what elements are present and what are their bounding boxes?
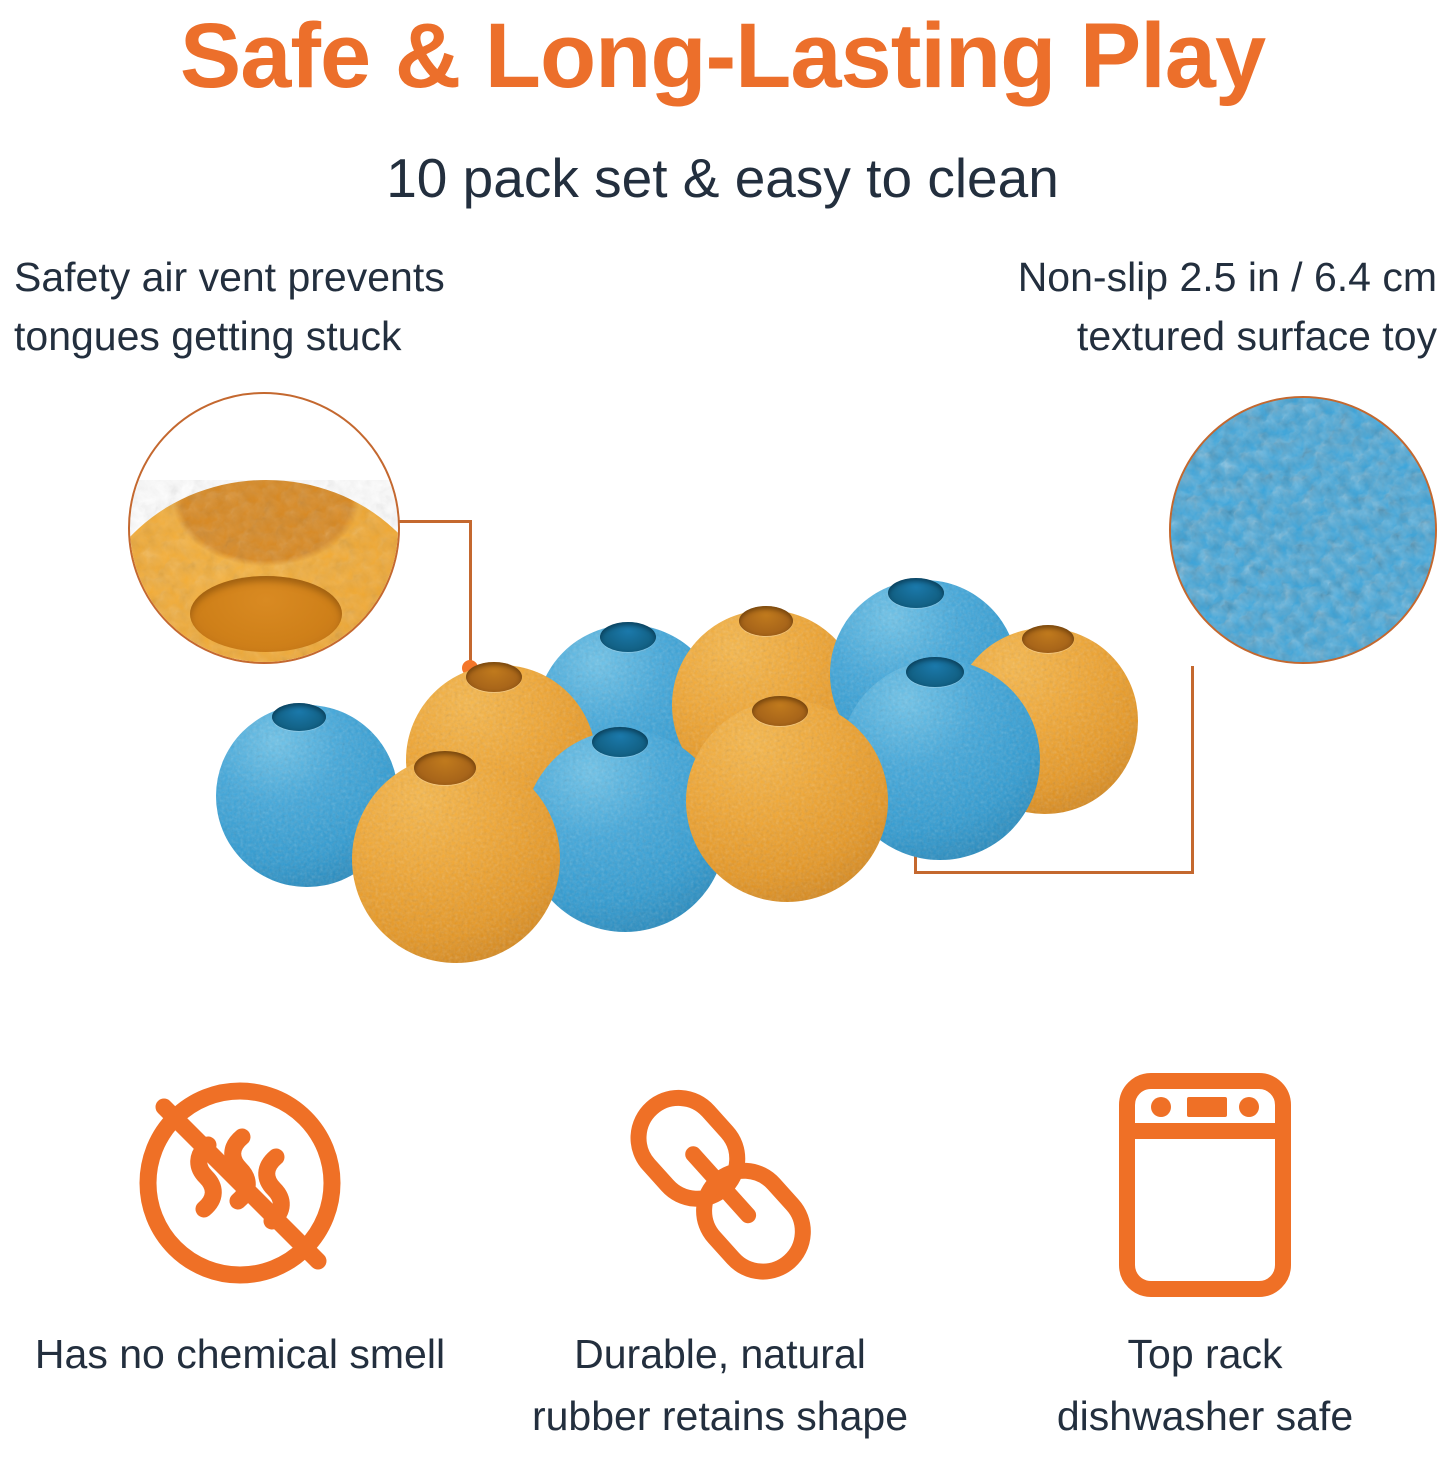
ball-air-vent-hole [272, 703, 326, 731]
feature-row: Has no chemical smell Durable, natural r… [0, 1060, 1445, 1458]
callout-caption-textured-surface-line2: textured surface toy [817, 307, 1437, 366]
dishwasher-icon [975, 1060, 1435, 1310]
feature-label-dishwasher-safe: Top rack dishwasher safe [975, 1324, 1435, 1447]
feature-label-line2: dishwasher safe [975, 1386, 1435, 1448]
chain-link-icon [490, 1060, 950, 1310]
ball-air-vent-hole [600, 622, 656, 652]
no-chemical-smell-icon [10, 1060, 470, 1310]
callout-caption-air-vent-line1: Safety air vent prevents [14, 248, 634, 307]
product-photo [0, 380, 1445, 1000]
feature-label-no-chemical-smell: Has no chemical smell [10, 1324, 470, 1386]
feature-no-chemical-smell: Has no chemical smell [10, 1060, 470, 1386]
callout-caption-textured-surface: Non-slip 2.5 in / 6.4 cm textured surfac… [817, 248, 1437, 367]
ball-air-vent-hole [739, 606, 793, 636]
page-subtitle: 10 pack set & easy to clean [0, 148, 1445, 209]
feature-dishwasher-safe: Top rack dishwasher safe [975, 1060, 1435, 1447]
ball-air-vent-hole [414, 751, 476, 785]
ball-air-vent-hole [906, 657, 964, 687]
ball-air-vent-hole [888, 578, 944, 608]
ball-texture [686, 700, 888, 902]
ball-air-vent-hole [466, 662, 522, 692]
feature-label-durable-rubber: Durable, natural rubber retains shape [490, 1324, 950, 1447]
page-title: Safe & Long-Lasting Play [0, 8, 1445, 105]
ball-air-vent-hole [1022, 625, 1074, 653]
callout-caption-air-vent-line2: tongues getting stuck [14, 307, 634, 366]
ball-orange-4 [686, 700, 888, 902]
feature-durable-rubber: Durable, natural rubber retains shape [490, 1060, 950, 1447]
feature-label-line2: rubber retains shape [490, 1386, 950, 1448]
feature-label-line1: Top rack [975, 1324, 1435, 1386]
ball-air-vent-hole [752, 696, 808, 726]
ball-body [686, 700, 888, 902]
ball-air-vent-hole [592, 727, 648, 757]
ball-body [352, 755, 560, 963]
feature-label-line1: Has no chemical smell [10, 1324, 470, 1386]
feature-label-line1: Durable, natural [490, 1324, 950, 1386]
ball-orange-5 [352, 755, 560, 963]
callout-caption-textured-surface-line1: Non-slip 2.5 in / 6.4 cm [817, 248, 1437, 307]
ball-cluster [0, 380, 1445, 1000]
ball-texture [352, 755, 560, 963]
callout-caption-air-vent: Safety air vent prevents tongues getting… [14, 248, 634, 367]
